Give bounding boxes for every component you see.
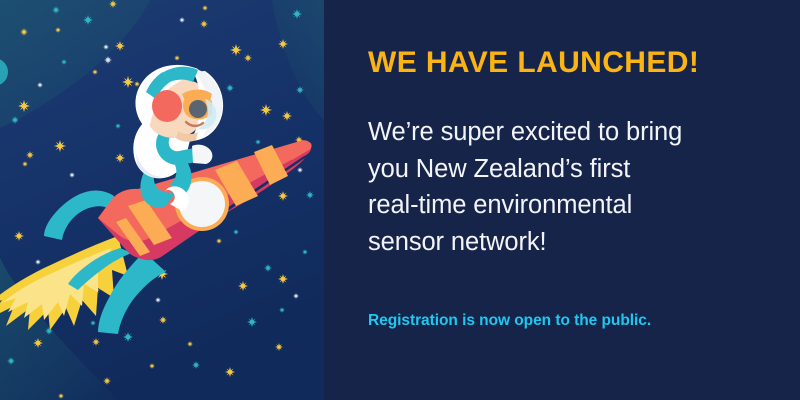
goggles-lens <box>189 100 207 118</box>
announcement-body: We’re super excited to bring you New Zea… <box>368 114 778 260</box>
body-line-3: real-time environmental <box>368 187 778 224</box>
astronaut-rocket-illustration <box>0 0 324 400</box>
page-title: WE HAVE LAUNCHED! <box>368 46 699 79</box>
launch-announcement-banner: WE HAVE LAUNCHED! We’re super excited to… <box>0 0 800 400</box>
body-line-1: We’re super excited to bring <box>368 114 778 151</box>
registration-notice: Registration is now open to the public. <box>368 312 651 330</box>
body-line-4: sensor network! <box>368 224 778 261</box>
announcement-text-panel: WE HAVE LAUNCHED! We’re super excited to… <box>324 0 800 400</box>
space-scene-svg <box>0 0 324 400</box>
body-line-2: you New Zealand’s first <box>368 151 778 188</box>
helmet-ear-pad <box>152 90 182 122</box>
